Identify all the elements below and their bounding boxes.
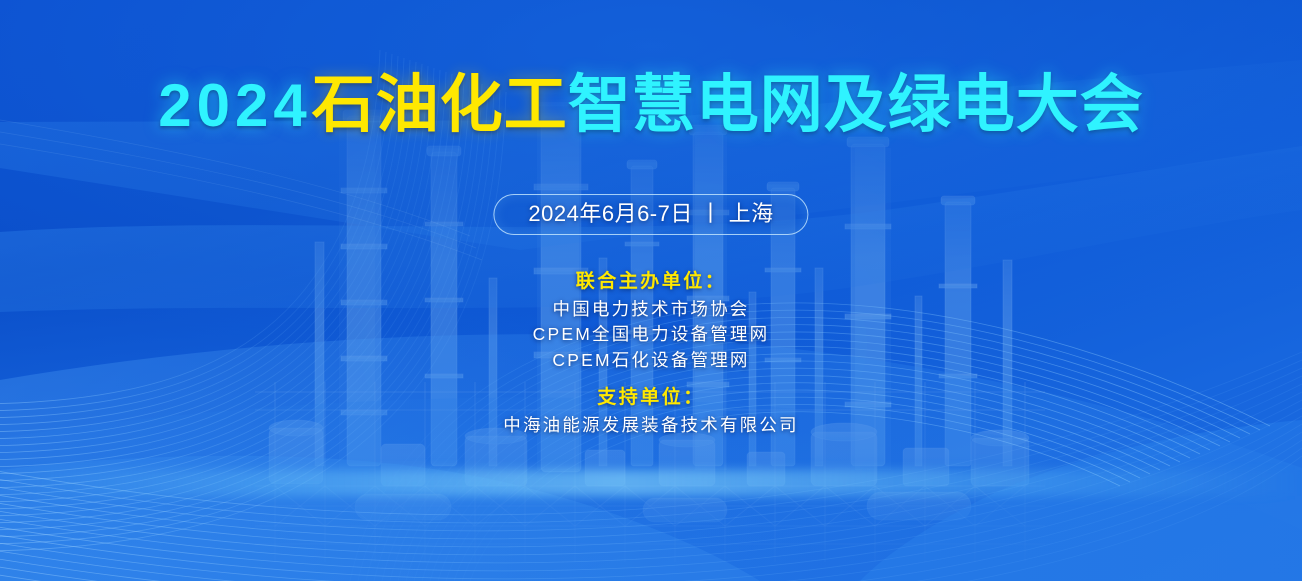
banner-content: 2024石油化工智慧电网及绿电大会 2024年6月6-7日 丨 上海 联合主办单… [0,0,1302,581]
title-year: 2024 [158,72,311,139]
organizer-item: CPEM全国电力设备管理网 [0,322,1302,348]
title-segment-cyan: 智慧电网及绿电大会 [568,70,1144,140]
organizer-item: 中国电力技术市场协会 [0,297,1302,323]
date-location-badge: 2024年6月6-7日 丨 上海 [493,194,808,235]
supporters-block: 支持单位： 中海油能源发展装备技术有限公司 [0,384,1302,438]
supporters-heading: 支持单位： [0,384,1302,413]
conference-banner: 2024石油化工智慧电网及绿电大会 2024年6月6-7日 丨 上海 联合主办单… [0,0,1302,581]
title-segment-yellow: 石油化工 [312,70,568,140]
organizers-heading: 联合主办单位： [0,268,1302,297]
supporter-item: 中海油能源发展装备技术有限公司 [0,413,1302,439]
organizer-item: CPEM石化设备管理网 [0,348,1302,374]
page-title: 2024石油化工智慧电网及绿电大会 [0,74,1302,137]
organizers-block: 联合主办单位： 中国电力技术市场协会 CPEM全国电力设备管理网 CPEM石化设… [0,268,1302,373]
